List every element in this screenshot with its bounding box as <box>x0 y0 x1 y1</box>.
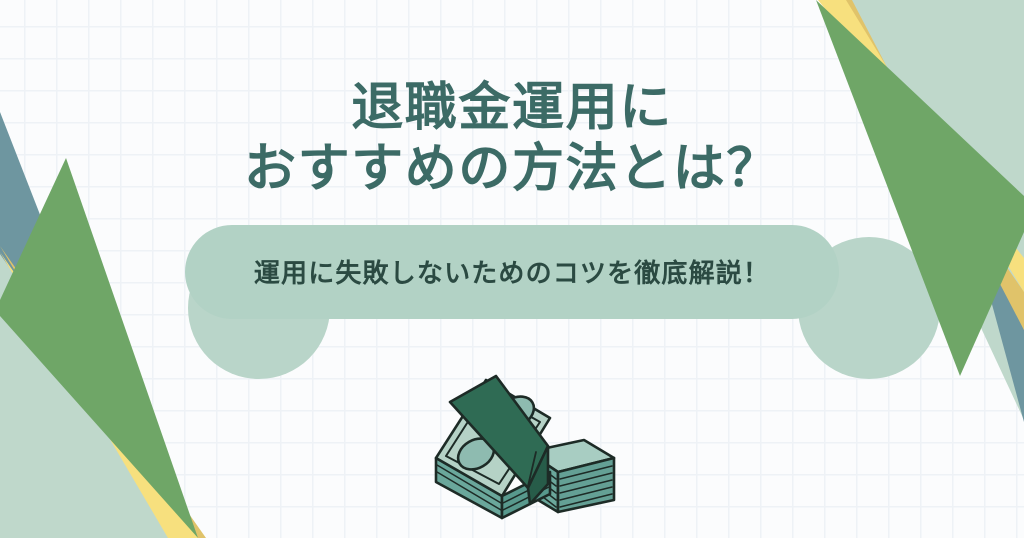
page-title: 退職金運用に おすすめの方法とは？ <box>244 78 780 201</box>
subtitle-pill: 運用に失敗しないためのコツを徹底解説！ <box>185 225 839 319</box>
title-line-1: 退職金運用に <box>244 78 780 139</box>
title-line-2: おすすめの方法とは？ <box>244 139 780 200</box>
banner-canvas: 退職金運用に おすすめの方法とは？ 運用に失敗しないためのコツを徹底解説！ <box>0 0 1024 538</box>
subtitle-text: 運用に失敗しないためのコツを徹底解説！ <box>254 253 770 290</box>
money-stacks-icon <box>424 362 624 522</box>
